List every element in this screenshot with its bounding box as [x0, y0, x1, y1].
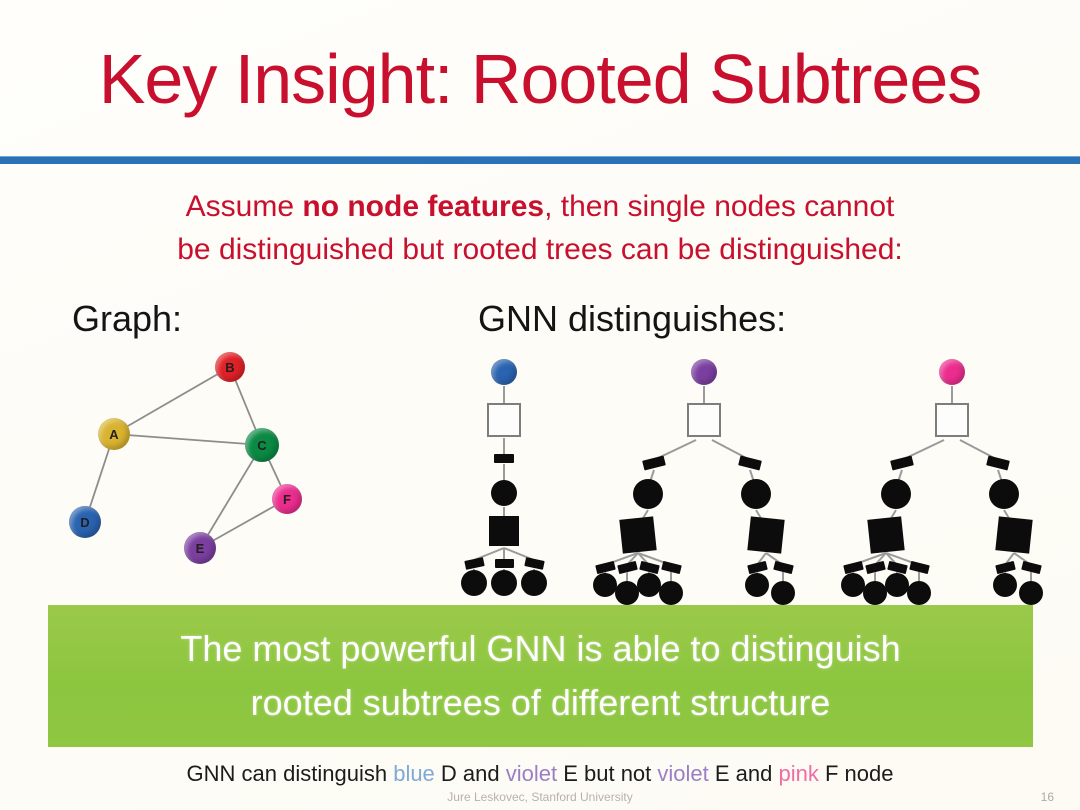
caption-seg3: E but not — [557, 761, 657, 786]
tree-black-square — [619, 516, 656, 553]
caption: GNN can distinguish blue D and violet E … — [0, 761, 1080, 787]
tree-black-circle — [863, 581, 887, 605]
tree-black-circle — [907, 581, 931, 605]
graph-node-e: E — [184, 532, 216, 564]
tree-root-box — [687, 403, 721, 437]
tree-root-node-f — [939, 359, 965, 385]
tree-violet-E — [612, 355, 802, 595]
tree-black-bar — [494, 454, 514, 463]
gnn-heading: GNN distinguishes: — [478, 298, 786, 340]
tree-black-bar — [986, 455, 1010, 470]
tree-black-bar — [524, 557, 544, 570]
tree-pink-F — [860, 355, 1050, 595]
tree-black-square — [489, 516, 519, 546]
tree-edge — [703, 386, 705, 404]
graph-heading: Graph: — [72, 298, 182, 340]
tree-edge — [951, 386, 953, 404]
graph-node-label: E — [196, 541, 205, 556]
graph-node-f: F — [272, 484, 302, 514]
tree-black-circle — [615, 581, 639, 605]
tree-black-circle — [841, 573, 865, 597]
slide-canvas: Key Insight: Rooted Subtrees Assume no n… — [0, 0, 1080, 810]
banner-line-1: The most powerful GNN is able to disting… — [180, 622, 900, 676]
caption-violet-word-2: violet — [657, 761, 708, 786]
tree-black-circle — [1019, 581, 1043, 605]
graph-edges — [30, 350, 330, 600]
tree-black-circle — [491, 570, 517, 596]
intro-paragraph: Assume no node features, then single nod… — [50, 186, 1030, 271]
caption-seg4: E and — [709, 761, 779, 786]
tree-black-circle — [885, 573, 909, 597]
tree-root-box — [487, 403, 521, 437]
footer-credit: Jure Leskovec, Stanford University — [0, 790, 1080, 804]
tree-black-circle — [881, 479, 911, 509]
tree-root-node-e — [691, 359, 717, 385]
caption-seg1: GNN can distinguish — [187, 761, 394, 786]
graph-node-b: B — [215, 352, 245, 382]
tree-black-circle — [745, 573, 769, 597]
tree-black-circle — [633, 479, 663, 509]
graph-node-label: C — [257, 438, 266, 453]
caption-blue-word: blue — [393, 761, 435, 786]
caption-seg5: F node — [819, 761, 894, 786]
caption-pink-word: pink — [778, 761, 818, 786]
tree-black-circle — [659, 581, 683, 605]
graph-node-a: A — [98, 418, 130, 450]
graph-node-label: F — [283, 492, 291, 507]
intro-text-part1: Assume — [186, 190, 303, 223]
tree-black-circle — [989, 479, 1019, 509]
graph-node-c: C — [245, 428, 279, 462]
tree-black-circle — [593, 573, 617, 597]
caption-violet-word-1: violet — [506, 761, 557, 786]
tree-edge — [503, 386, 505, 404]
intro-text-line2: be distinguished but rooted trees can be… — [177, 233, 903, 266]
tree-black-square — [747, 516, 784, 553]
graph-node-label: B — [225, 360, 234, 375]
tree-black-circle — [637, 573, 661, 597]
tree-black-circle — [521, 570, 547, 596]
tree-black-square — [995, 516, 1032, 553]
tree-root-node-d — [491, 359, 517, 385]
key-message-banner: The most powerful GNN is able to disting… — [48, 605, 1033, 747]
graph-node-d: D — [69, 506, 101, 538]
intro-text-part2: , then single nodes cannot — [544, 190, 894, 223]
tree-black-bar — [890, 455, 914, 470]
tree-root-box — [935, 403, 969, 437]
tree-black-circle — [771, 581, 795, 605]
banner-line-2: rooted subtrees of different structure — [251, 676, 831, 730]
tree-black-circle — [993, 573, 1017, 597]
tree-black-bar — [738, 455, 762, 470]
example-graph: BACDFE — [30, 350, 330, 600]
graph-node-label: A — [109, 427, 118, 442]
tree-black-bar — [642, 455, 666, 470]
graph-node-label: D — [80, 515, 89, 530]
tree-black-circle — [741, 479, 771, 509]
tree-black-circle — [491, 480, 517, 506]
tree-black-circle — [461, 570, 487, 596]
tree-black-square — [867, 516, 904, 553]
title-divider-rule — [0, 156, 1080, 164]
tree-black-bar — [464, 557, 484, 570]
caption-seg2: D and — [435, 761, 506, 786]
page-number: 16 — [1041, 790, 1054, 804]
tree-edge — [503, 507, 505, 516]
intro-text-bold: no node features — [302, 190, 544, 223]
tree-blue-D — [420, 355, 600, 595]
page-title: Key Insight: Rooted Subtrees — [0, 44, 1080, 114]
tree-black-bar — [495, 559, 514, 568]
